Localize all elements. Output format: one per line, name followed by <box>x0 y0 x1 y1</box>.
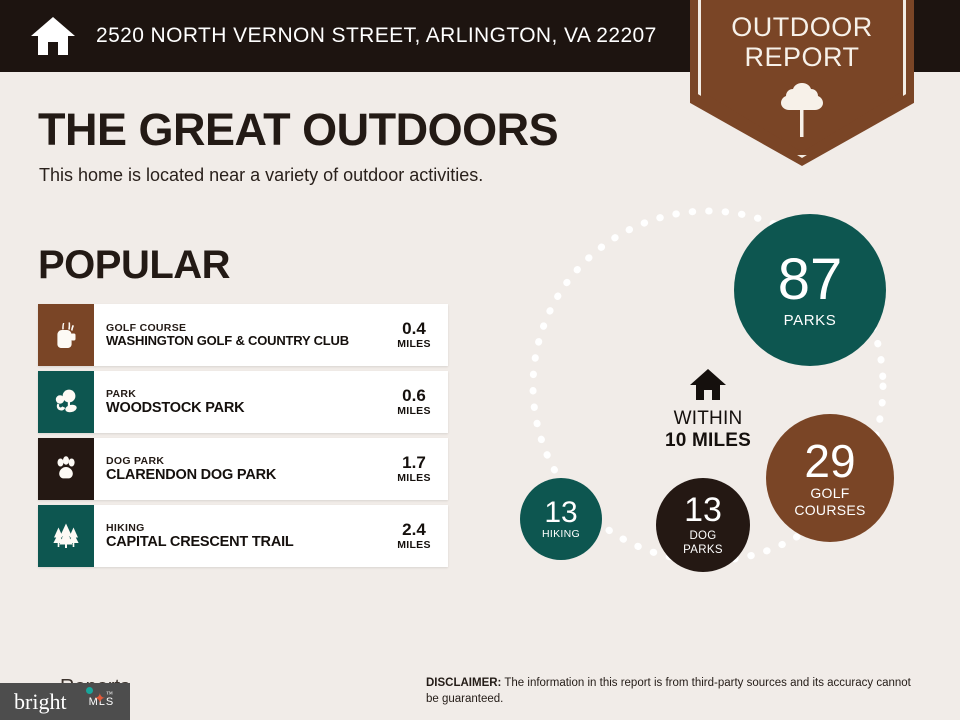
poi-text: PARK WOODSTOCK PARK <box>94 371 388 433</box>
outdoor-report-badge: OUTDOOR REPORT <box>690 0 914 166</box>
bubble-hiking[interactable]: 13 HIKING <box>520 478 602 560</box>
paw-print-icon <box>50 453 82 485</box>
bubble-parks[interactable]: 87 PARKS <box>734 214 886 366</box>
poi-icon-tile <box>38 438 94 500</box>
poi-distance-value: 0.6 <box>402 387 426 405</box>
tree-icon <box>776 81 828 139</box>
list-item[interactable]: DOG PARK CLARENDON DOG PARK 1.7 MILES <box>38 438 448 500</box>
poi-name: WASHINGTON GOLF & COUNTRY CLUB <box>106 334 384 349</box>
page-title: THE GREAT OUTDOORS <box>38 104 558 156</box>
page-subtitle: This home is located near a variety of o… <box>39 165 483 186</box>
bubble-label-line2: PARKS <box>683 544 723 556</box>
badge-content: OUTDOOR REPORT <box>690 0 914 166</box>
ring-center-label: WITHIN 10 MILES <box>608 368 808 452</box>
park-tree-icon <box>50 386 82 418</box>
ring-miles-text: 10 MILES <box>665 430 751 452</box>
bubble-count: 29 <box>804 439 855 484</box>
house-icon <box>30 15 76 57</box>
poi-distance: 1.7 MILES <box>388 438 448 500</box>
bubble-count: 87 <box>778 252 843 309</box>
poi-icon-tile <box>38 505 94 567</box>
poi-distance: 0.6 MILES <box>388 371 448 433</box>
poi-icon-tile <box>38 371 94 433</box>
bubble-dog-parks[interactable]: 13 DOG PARKS <box>656 478 750 572</box>
golf-bag-icon <box>50 319 82 351</box>
poi-text: GOLF COURSE WASHINGTON GOLF & COUNTRY CL… <box>94 304 388 366</box>
bubble-label: HIKING <box>542 529 580 540</box>
poi-name: WOODSTOCK PARK <box>106 400 384 416</box>
popular-list: GOLF COURSE WASHINGTON GOLF & COUNTRY CL… <box>38 304 448 572</box>
poi-category: DOG PARK <box>106 455 384 467</box>
bubble-label-line1: DOG <box>689 530 716 542</box>
poi-distance-unit: MILES <box>397 405 431 417</box>
poi-category: GOLF COURSE <box>106 322 384 334</box>
within-radius-diagram: 87 PARKS 29 GOLF COURSES 13 DOG PARKS 13… <box>488 196 928 636</box>
poi-distance-value: 2.4 <box>402 521 426 539</box>
logo-trademark-icon: ™ <box>106 691 113 698</box>
bubble-label-line2: COURSES <box>794 503 865 518</box>
badge-title-line2: REPORT <box>731 44 873 71</box>
logo-brand-word: bright <box>14 689 67 714</box>
bubble-count: 13 <box>544 498 577 527</box>
badge-title: OUTDOOR REPORT <box>731 14 873 71</box>
property-address: 2520 NORTH VERNON STREET, ARLINGTON, VA … <box>96 24 657 48</box>
poi-name: CAPITAL CRESCENT TRAIL <box>106 534 384 550</box>
poi-distance-unit: MILES <box>397 338 431 350</box>
poi-category: HIKING <box>106 522 384 534</box>
list-item[interactable]: PARK WOODSTOCK PARK 0.6 MILES <box>38 371 448 433</box>
poi-name: CLARENDON DOG PARK <box>106 467 384 483</box>
poi-distance: 0.4 MILES <box>388 304 448 366</box>
poi-text: HIKING CAPITAL CRESCENT TRAIL <box>94 505 388 567</box>
logo-dot-icon <box>86 687 93 694</box>
poi-distance-value: 0.4 <box>402 320 426 338</box>
poi-icon-tile <box>38 304 94 366</box>
disclaimer-label: DISCLAIMER: <box>426 677 501 689</box>
ring-within-text: WITHIN <box>674 408 743 430</box>
poi-distance: 2.4 MILES <box>388 505 448 567</box>
bright-mls-logo[interactable]: bright ✦ ™ MLS <box>0 683 130 720</box>
bubble-label: PARKS <box>784 313 837 329</box>
popular-heading: POPULAR <box>38 243 230 288</box>
badge-title-line1: OUTDOOR <box>731 12 873 42</box>
poi-distance-unit: MILES <box>397 539 431 551</box>
list-item[interactable]: GOLF COURSE WASHINGTON GOLF & COUNTRY CL… <box>38 304 448 366</box>
logo-brand-text: bright ✦ ™ <box>14 691 67 713</box>
poi-distance-value: 1.7 <box>402 454 426 472</box>
bubble-count: 13 <box>684 494 722 527</box>
disclaimer: DISCLAIMER: The information in this repo… <box>426 676 926 707</box>
poi-distance-unit: MILES <box>397 472 431 484</box>
list-item[interactable]: HIKING CAPITAL CRESCENT TRAIL 2.4 MILES <box>38 505 448 567</box>
bubble-label-line1: GOLF <box>810 486 849 501</box>
house-icon <box>689 368 727 402</box>
poi-category: PARK <box>106 388 384 400</box>
pine-trees-icon <box>50 520 82 552</box>
logo-star-icon: ✦ <box>94 693 106 707</box>
poi-text: DOG PARK CLARENDON DOG PARK <box>94 438 388 500</box>
